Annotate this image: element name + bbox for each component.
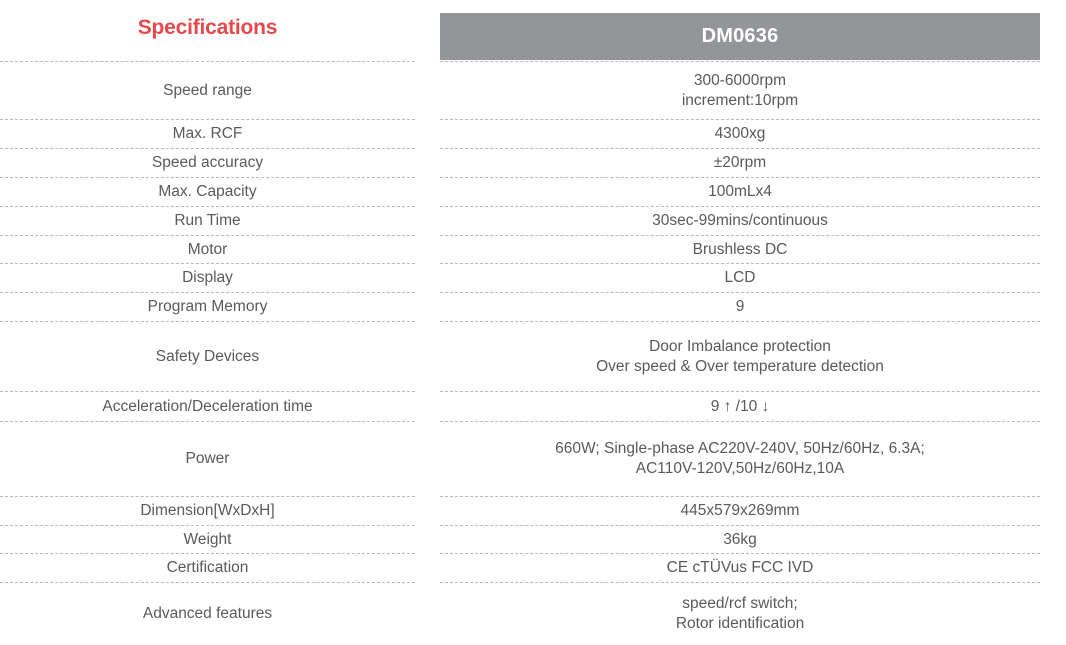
spec-value-lines: 36kg [446,530,1034,550]
spec-value-line: 100mLx4 [446,182,1034,202]
spec-value-line: 445x579x269mm [446,501,1034,521]
column-gap [415,553,440,582]
spec-value-lines: 300-6000rpmincrement:10rpm [446,71,1034,111]
spec-value-lines: 9 [446,297,1034,317]
table-row: MotorBrushless DC [0,235,1066,263]
spec-value: Brushless DC [440,235,1040,263]
column-gap [415,177,440,206]
spec-label: Certification [0,553,415,582]
table-row: Max. RCF4300xg [0,119,1066,148]
spec-label: Run Time [0,206,415,235]
column-gap [415,496,440,525]
specification-table: Specifications DM0636 Speed range300-600… [0,0,1066,645]
spec-label: Speed accuracy [0,148,415,177]
table-row: Speed accuracy±20rpm [0,148,1066,177]
spec-rows: Speed range300-6000rpmincrement:10rpmMax… [0,61,1066,645]
spec-value: ±20rpm [440,148,1040,177]
spec-label: Dimension[WxDxH] [0,496,415,525]
spec-label: Speed range [0,61,415,119]
column-gap [415,206,440,235]
spec-value-lines: 30sec-99mins/continuous [446,211,1034,231]
spec-value-line: Brushless DC [446,240,1034,260]
table-row: Program Memory9 [0,292,1066,321]
table-row: Advanced featuresspeed/rcf switch;Rotor … [0,582,1066,645]
spec-value-lines: Brushless DC [446,240,1034,260]
spec-label: Safety Devices [0,321,415,391]
spec-label: Max. Capacity [0,177,415,206]
table-row: Safety DevicesDoor Imbalance protectionO… [0,321,1066,391]
spec-value-line: AC110V-120V,50Hz/60Hz,10A [446,459,1034,479]
column-gap [415,119,440,148]
table-row: Acceleration/Deceleration time9 ↑ /10 ↓ [0,391,1066,421]
spec-value: Door Imbalance protectionOver speed & Ov… [440,321,1040,391]
table-row: Run Time30sec-99mins/continuous [0,206,1066,235]
spec-value-line: speed/rcf switch; [446,594,1034,614]
column-gap [415,61,440,119]
table-row: Dimension[WxDxH]445x579x269mm [0,496,1066,525]
spec-value-line: 30sec-99mins/continuous [446,211,1034,231]
table-row: DisplayLCD [0,263,1066,292]
spec-value: 9 ↑ /10 ↓ [440,391,1040,421]
column-gap [415,582,440,645]
spec-label: Motor [0,235,415,263]
table-row: CertificationCE cTÜVus FCC IVD [0,553,1066,582]
column-gap [415,525,440,553]
spec-value-lines: ±20rpm [446,153,1034,173]
spec-value-lines: Door Imbalance protectionOver speed & Ov… [446,337,1034,377]
spec-value: 30sec-99mins/continuous [440,206,1040,235]
spec-label: Weight [0,525,415,553]
column-gap [415,421,440,496]
column-gap [415,292,440,321]
spec-value: speed/rcf switch;Rotor identification [440,582,1040,645]
spec-value: 36kg [440,525,1040,553]
model-header-cell: DM0636 [440,13,1040,60]
spec-value-lines: 100mLx4 [446,182,1034,202]
spec-value-lines: 660W; Single-phase AC220V-240V, 50Hz/60H… [446,439,1034,479]
spec-value-line: CE cTÜVus FCC IVD [446,558,1034,578]
spec-value-line: increment:10rpm [446,91,1034,111]
table-row: Speed range300-6000rpmincrement:10rpm [0,61,1066,119]
specifications-title-cell: Specifications [0,0,415,61]
spec-value: 300-6000rpmincrement:10rpm [440,61,1040,119]
spec-value-line: 300-6000rpm [446,71,1034,91]
spec-label: Advanced features [0,582,415,645]
table-row: Weight36kg [0,525,1066,553]
spec-value-line: 9 [446,297,1034,317]
column-gap [415,391,440,421]
spec-value-lines: 9 ↑ /10 ↓ [446,397,1034,417]
spec-value: 100mLx4 [440,177,1040,206]
spec-value: 660W; Single-phase AC220V-240V, 50Hz/60H… [440,421,1040,496]
column-gap [415,148,440,177]
spec-value-line: LCD [446,268,1034,288]
spec-value: LCD [440,263,1040,292]
table-row: Max. Capacity100mLx4 [0,177,1066,206]
spec-value-lines: 445x579x269mm [446,501,1034,521]
spec-value: 4300xg [440,119,1040,148]
column-gap [415,321,440,391]
table-row: Power660W; Single-phase AC220V-240V, 50H… [0,421,1066,496]
spec-value-line: 9 ↑ /10 ↓ [446,397,1034,417]
spec-label: Display [0,263,415,292]
page-title: Specifications [138,16,278,40]
spec-value-line: 4300xg [446,124,1034,144]
spec-value-line: ±20rpm [446,153,1034,173]
spec-value-line: Door Imbalance protection [446,337,1034,357]
spec-value-line: Rotor identification [446,614,1034,634]
spec-label: Acceleration/Deceleration time [0,391,415,421]
column-gap [415,263,440,292]
spec-value: CE cTÜVus FCC IVD [440,553,1040,582]
spec-label: Power [0,421,415,496]
column-gap [415,235,440,263]
spec-label: Program Memory [0,292,415,321]
spec-value: 445x579x269mm [440,496,1040,525]
table-header: Specifications DM0636 [0,0,1066,61]
spec-value: 9 [440,292,1040,321]
model-name: DM0636 [702,25,779,48]
spec-label: Max. RCF [0,119,415,148]
spec-value-lines: 4300xg [446,124,1034,144]
spec-value-line: Over speed & Over temperature detection [446,357,1034,377]
spec-value-line: 36kg [446,530,1034,550]
spec-value-lines: LCD [446,268,1034,288]
spec-value-lines: speed/rcf switch;Rotor identification [446,594,1034,634]
spec-value-lines: CE cTÜVus FCC IVD [446,558,1034,578]
column-gap [415,0,440,61]
spec-value-line: 660W; Single-phase AC220V-240V, 50Hz/60H… [446,439,1034,459]
